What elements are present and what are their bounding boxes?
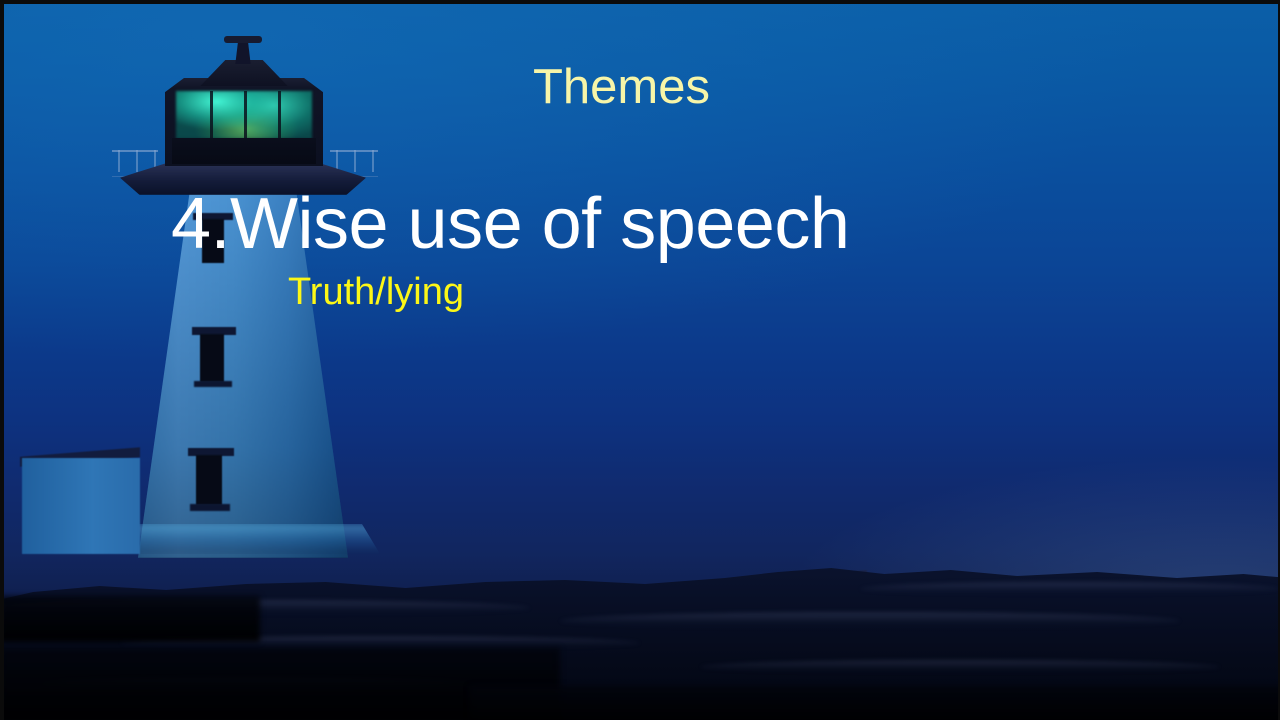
slide-subheading: Truth/lying	[288, 273, 464, 311]
presentation-slide: Themes 4.Wise use of speech Truth/lying	[0, 0, 1280, 720]
rock-shadow	[0, 596, 260, 642]
rock-stratum	[860, 582, 1280, 596]
rock-shadow	[470, 686, 1280, 720]
slide-kicker-title: Themes	[533, 63, 710, 112]
rock-stratum	[560, 612, 1180, 630]
slide-main-heading: 4.Wise use of speech	[171, 188, 849, 260]
rock-stratum	[700, 660, 1220, 674]
